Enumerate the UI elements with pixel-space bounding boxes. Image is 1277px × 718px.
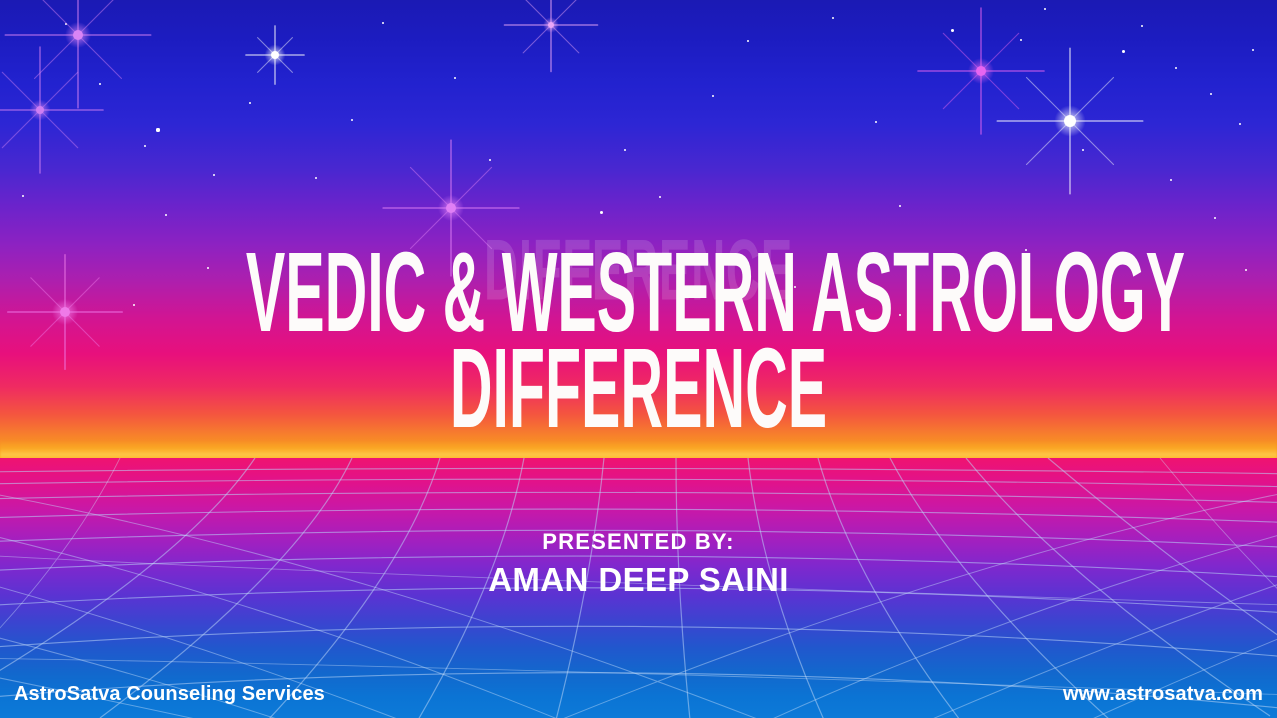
ground-plane	[0, 458, 1277, 718]
presentation-slide: DIFFERENCE VEDIC & WESTERN ASTROLOGY DIF…	[0, 0, 1277, 718]
footer-company-name: AstroSatva Counseling Services	[14, 683, 325, 706]
sky-background	[0, 0, 1277, 460]
perspective-grid-mesh	[0, 458, 1277, 718]
footer-website-url[interactable]: www.astrosatva.com	[1063, 683, 1263, 706]
